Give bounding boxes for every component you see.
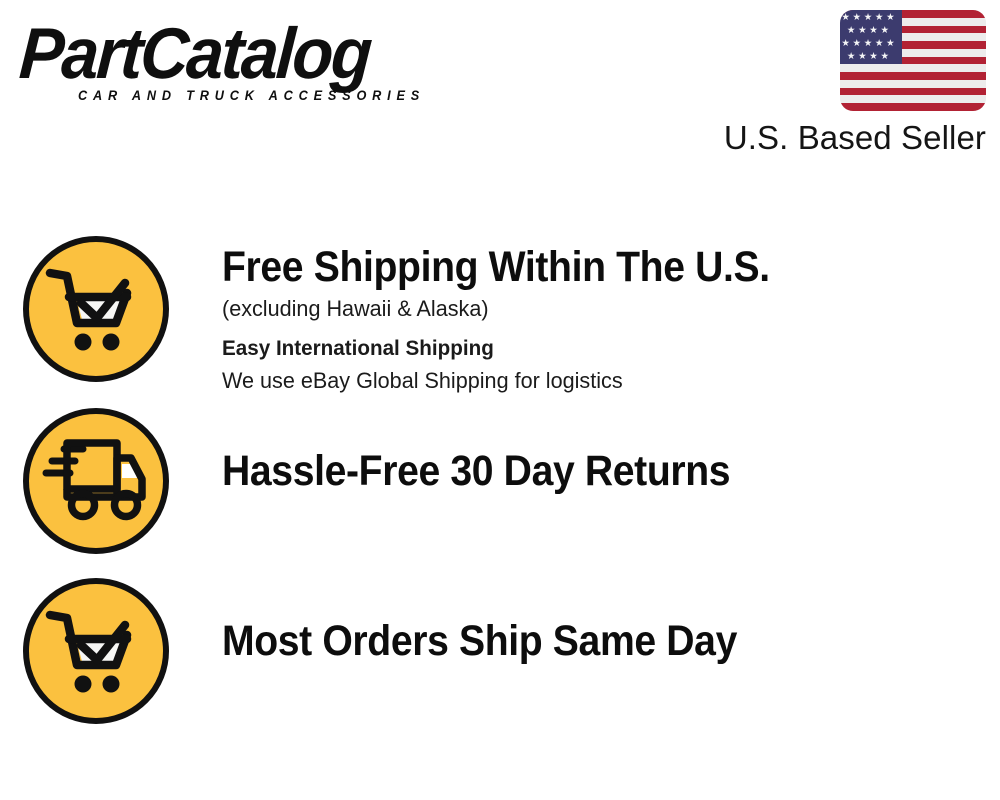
flag-star-icon: ★ (846, 26, 857, 36)
us-flag-icon: ★ ★ ★ ★ ★ ★ ★ ★ ★ ★ ★ ★ ★ ★ (840, 10, 986, 111)
feature-headline: Free Shipping Within The U.S. (222, 242, 930, 292)
flag-star-icon: ★ (879, 26, 890, 36)
feature-badge (23, 236, 169, 382)
feature-icon-wrap (0, 236, 190, 382)
shopping-cart-check-icon (44, 604, 148, 698)
flag-star-row: ★ ★ ★ ★ (840, 24, 907, 38)
feature-headline: Hassle-Free 30 Day Returns (222, 446, 930, 496)
banner-header: PartCatalog CAR AND TRUCK ACCESSORIES ★ … (0, 0, 1000, 175)
flag-stripe (840, 95, 986, 103)
flag-star-icon: ★ (862, 39, 873, 49)
feature-secondary-headline: Easy International Shipping (222, 332, 969, 364)
us-based-seller-label: U.S. Based Seller (716, 118, 986, 158)
flag-canton: ★ ★ ★ ★ ★ ★ ★ ★ ★ ★ ★ ★ ★ ★ (840, 10, 902, 64)
flag-star-icon: ★ (862, 13, 873, 23)
flag-star-icon: ★ (857, 26, 868, 36)
flag-star-icon: ★ (846, 52, 857, 62)
feature-badge (23, 408, 169, 554)
feature-subtext: (excluding Hawaii & Alaska) (222, 293, 969, 325)
flag-star-icon: ★ (874, 13, 885, 23)
feature-text: Most Orders Ship Same Day (190, 578, 1000, 666)
feature-badge (23, 578, 169, 724)
flag-star-icon: ★ (851, 13, 862, 23)
flag-stripe (840, 88, 986, 96)
flag-star-icon: ★ (857, 52, 868, 62)
flag-stripe (840, 64, 986, 72)
flag-stripe (840, 72, 986, 80)
flag-star-icon: ★ (885, 13, 896, 23)
brand-logo[interactable]: PartCatalog CAR AND TRUCK ACCESSORIES (22, 18, 492, 118)
feature-text: Hassle-Free 30 Day Returns (190, 408, 1000, 496)
feature-row: Most Orders Ship Same Day (0, 578, 1000, 748)
brand-wordmark: PartCatalog (17, 18, 459, 90)
feature-row: Free Shipping Within The U.S. (excluding… (0, 236, 1000, 408)
flag-star-icon: ★ (868, 26, 879, 36)
flag-star-icon: ★ (874, 39, 885, 49)
flag-star-icon: ★ (851, 39, 862, 49)
flag-star-icon: ★ (885, 39, 896, 49)
flag-star-icon: ★ (879, 52, 890, 62)
us-based-seller-badge: ★ ★ ★ ★ ★ ★ ★ ★ ★ ★ ★ ★ ★ ★ (716, 10, 986, 158)
brand-tagline: CAR AND TRUCK ACCESSORIES (78, 88, 467, 103)
flag-star-row: ★ ★ ★ ★ ★ (840, 11, 902, 25)
feature-icon-wrap (0, 578, 190, 724)
flag-star-icon: ★ (840, 13, 851, 23)
delivery-truck-icon (42, 438, 150, 524)
flag-star-row: ★ ★ ★ ★ (840, 50, 907, 64)
feature-text: Free Shipping Within The U.S. (excluding… (190, 236, 1000, 397)
flag-star-row: ★ ★ ★ ★ ★ (840, 37, 902, 51)
shopping-cart-check-icon (44, 262, 148, 356)
feature-row: Hassle-Free 30 Day Returns (0, 408, 1000, 578)
feature-headline: Most Orders Ship Same Day (222, 616, 930, 666)
feature-icon-wrap (0, 408, 190, 554)
feature-secondary-subtext: We use eBay Global Shipping for logistic… (222, 365, 969, 397)
flag-star-icon: ★ (840, 39, 851, 49)
feature-list: Free Shipping Within The U.S. (excluding… (0, 236, 1000, 748)
flag-stripe (840, 80, 986, 88)
flag-stripe (840, 103, 986, 111)
flag-star-icon: ★ (868, 52, 879, 62)
